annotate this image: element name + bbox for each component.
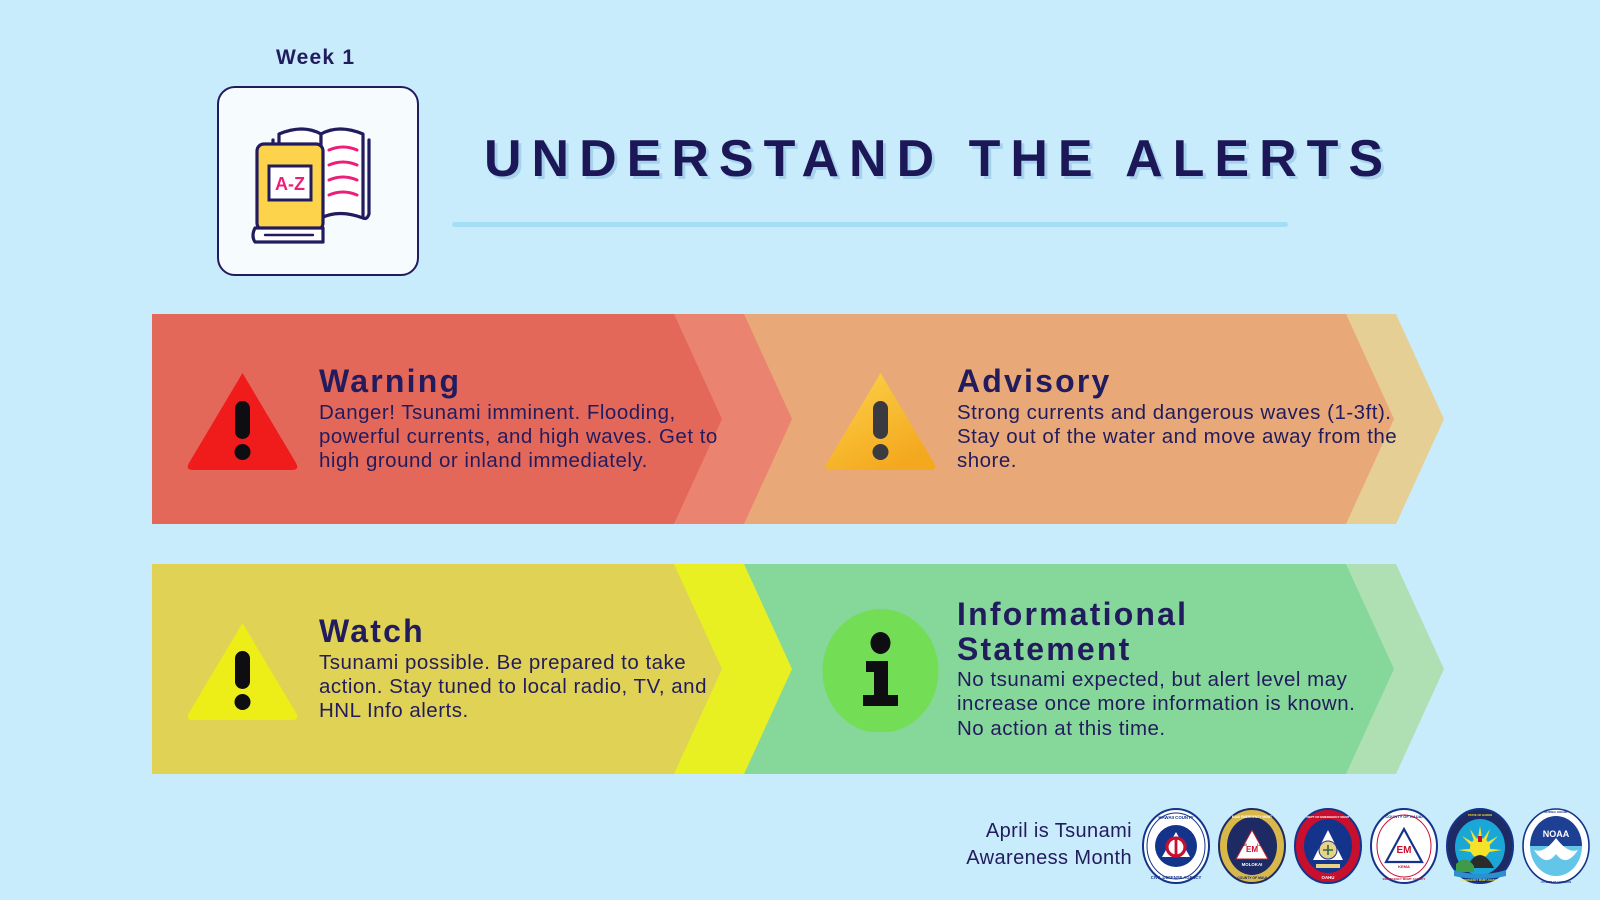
alert-row-watch-informational: Watch Tsunami possible. Be prepared to t… [0,564,1600,774]
maui-emergency-management-agency-logo: EM MAUI LANA'I MOLOKAI MAUI EMERGENCY MG… [1216,806,1288,886]
alert-title-informational: Informational Statement [957,597,1257,666]
title-divider [452,222,1288,227]
alert-card-warning: Warning Danger! Tsunami imminent. Floodi… [180,314,740,524]
awareness-tagline: April is Tsunami Awareness Month [966,818,1132,871]
svg-text:NATIONAL OCEANIC: NATIONAL OCEANIC [1544,811,1568,814]
alert-body-advisory: Strong currents and dangerous waves (1-3… [957,401,1418,474]
hawaii-state-emergency-management-agency-logo: STATE OF HAWAII EMERGENCY MGMT AGENCY [1444,806,1516,886]
alert-card-informational: Informational Statement No tsunami expec… [818,564,1418,774]
svg-text:COUNTY OF KAUAI: COUNTY OF KAUAI [1385,814,1422,819]
oahu-department-of-emergency-management-logo: DEPT OF EMERGENCY MGMT OAHU [1292,806,1364,886]
svg-text:EMERGENCY MGMT AGENCY: EMERGENCY MGMT AGENCY [1461,878,1498,882]
alert-body-warning: Danger! Tsunami imminent. Flooding, powe… [319,401,740,474]
svg-text:DEPT OF EMERGENCY MGMT: DEPT OF EMERGENCY MGMT [1306,815,1349,819]
alert-title-watch: Watch [319,614,740,649]
week-label: Week 1 [276,46,355,70]
infographic-page: Week 1 A-Z UNDERSTAND THE ALERTS [0,0,1600,900]
hawaii-county-civil-defense-agency-logo: HAWAII COUNTY CIVIL DEFENSE AGENCY [1140,806,1212,886]
svg-text:EMERGENCY MGMT AGENCY: EMERGENCY MGMT AGENCY [1383,877,1426,881]
alert-title-advisory: Advisory [957,364,1418,399]
svg-text:HAWAII COUNTY: HAWAII COUNTY [1158,815,1193,820]
kauai-emergency-management-agency-logo: EM KEMA COUNTY OF KAUAI EMERGENCY MGMT A… [1368,806,1440,886]
alert-body-watch: Tsunami possible. Be prepared to take ac… [319,651,740,724]
svg-text:LANA'I: LANA'I [1257,843,1269,847]
svg-text:OAHU: OAHU [1322,875,1335,880]
svg-text:U.S. DEPT OF COMMERCE: U.S. DEPT OF COMMERCE [1541,881,1572,884]
svg-text:EM: EM [1397,845,1412,856]
alert-body-informational: No tsunami expected, but alert level may… [957,668,1418,741]
dictionary-icon-card: A-Z [217,86,419,276]
svg-text:COUNTY OF MAUI: COUNTY OF MAUI [1237,876,1267,880]
alert-title-warning: Warning [319,364,740,399]
svg-text:NOAA: NOAA [1543,829,1570,839]
tagline-line-1: April is Tsunami [966,818,1132,845]
book-cover-label: A-Z [275,174,305,194]
svg-text:MAUI: MAUI [1237,843,1246,847]
advisory-triangle-icon [818,357,943,482]
svg-text:KEMA: KEMA [1398,864,1410,869]
alert-card-watch: Watch Tsunami possible. Be prepared to t… [180,564,740,774]
alert-row-warning-advisory: Warning Danger! Tsunami imminent. Floodi… [0,314,1600,524]
page-title: UNDERSTAND THE ALERTS [484,133,1304,185]
warning-triangle-icon [180,357,305,482]
agency-logo-strip: HAWAII COUNTY CIVIL DEFENSE AGENCY EM MA… [1140,806,1592,886]
svg-text:MAUI EMERGENCY MGMT: MAUI EMERGENCY MGMT [1232,815,1272,819]
svg-text:CIVIL DEFENSE AGENCY: CIVIL DEFENSE AGENCY [1151,875,1202,880]
dictionary-book-icon: A-Z [243,110,395,256]
tagline-line-2: Awareness Month [966,845,1132,872]
svg-text:STATE OF HAWAII: STATE OF HAWAII [1468,813,1492,817]
information-circle-icon [818,607,943,732]
alert-card-advisory: Advisory Strong currents and dangerous w… [818,314,1418,524]
noaa-logo: NOAA NATIONAL OCEANIC U.S. DEPT OF COMME… [1520,806,1592,886]
watch-triangle-icon [180,607,305,732]
svg-text:MOLOKAI: MOLOKAI [1242,862,1263,867]
